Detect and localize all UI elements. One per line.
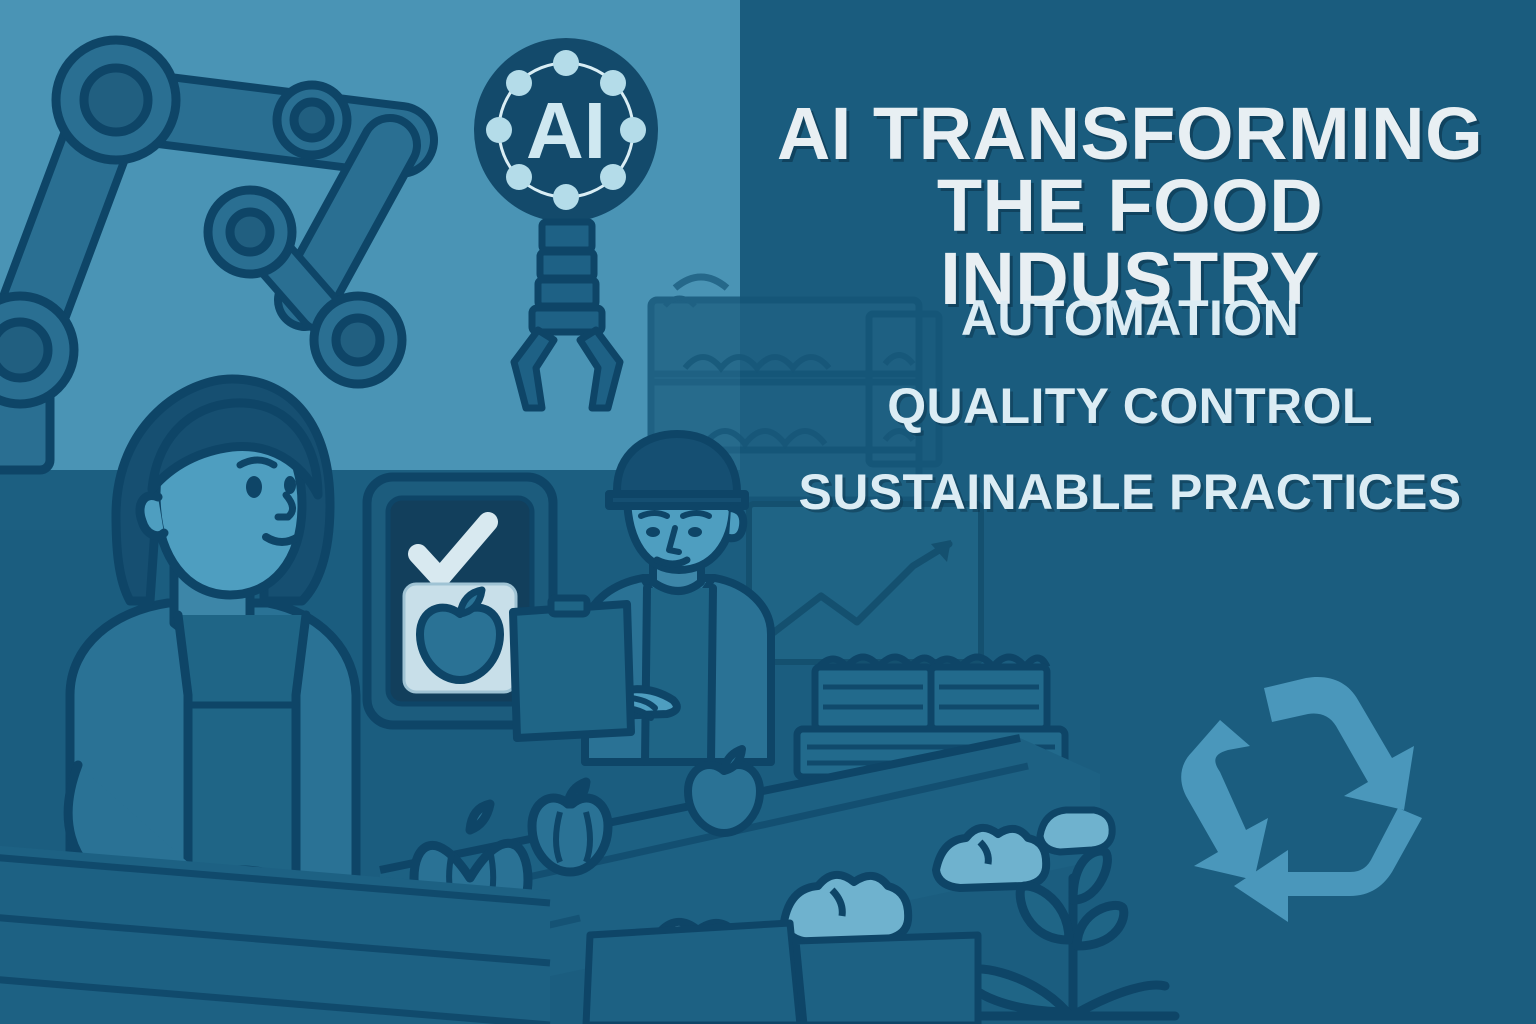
clipboard: [513, 598, 631, 738]
ai-badge-label: AI: [526, 86, 606, 175]
feature-list: AUTOMATION QUALITY CONTROL SUSTAINABLE P…: [760, 290, 1500, 551]
female-worker: [18, 365, 378, 925]
ai-badge: AI: [468, 32, 664, 228]
counter-surface: [0, 845, 550, 1024]
apples: [680, 745, 770, 835]
feature-item-quality-control: QUALITY CONTROL: [760, 378, 1500, 434]
text-column: AI TRANSFORMING THE FOOD INDUSTRY AUTOMA…: [760, 0, 1536, 1024]
feature-item-sustainable-practices: SUSTAINABLE PRACTICES: [760, 466, 1500, 519]
poster-canvas: AI: [0, 0, 1536, 1024]
page-title: AI TRANSFORMING THE FOOD INDUSTRY: [760, 98, 1500, 316]
title-line-1: AI TRANSFORMING: [777, 92, 1483, 175]
feature-item-automation: AUTOMATION: [760, 290, 1500, 346]
robot-gripper: [498, 222, 638, 412]
